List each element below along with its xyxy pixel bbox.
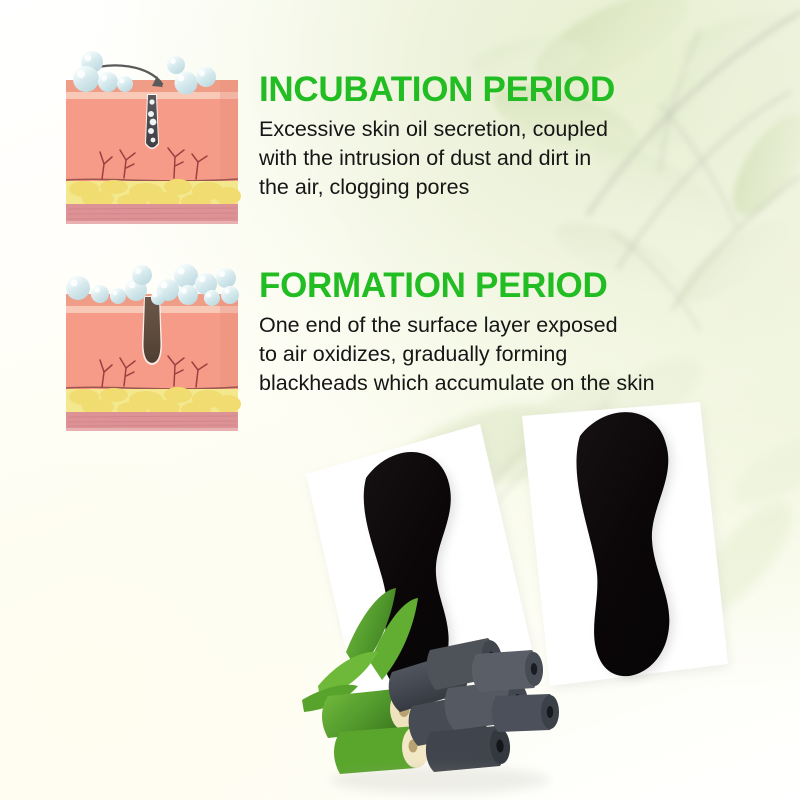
bubble bbox=[216, 268, 236, 288]
skin-diagram-formation bbox=[62, 268, 242, 433]
pile-shadow bbox=[330, 766, 550, 794]
section-incubation: INCUBATION PERIOD Excessive skin oil sec… bbox=[259, 72, 679, 202]
product-photo-svg bbox=[300, 400, 800, 800]
bubble bbox=[66, 276, 90, 300]
bubble bbox=[91, 285, 109, 303]
bubble bbox=[204, 290, 220, 306]
bubble bbox=[196, 67, 216, 87]
skin-cross-section-formation-svg bbox=[62, 268, 242, 433]
bubble bbox=[117, 76, 133, 92]
skin-diagram-incubation bbox=[62, 56, 242, 228]
body-line: One end of the surface layer exposed bbox=[259, 311, 709, 340]
body-formation: One end of the surface layer exposed to … bbox=[259, 311, 709, 397]
body-line: to air oxidizes, gradually forming bbox=[259, 340, 709, 369]
bubble bbox=[98, 72, 118, 92]
body-line: the air, clogging pores bbox=[259, 173, 679, 202]
bubble bbox=[110, 288, 126, 304]
bubble bbox=[174, 264, 198, 288]
section-formation: FORMATION PERIOD One end of the surface … bbox=[259, 268, 709, 398]
bubble bbox=[132, 265, 152, 285]
body-line: with the intrusion of dust and dirt in bbox=[259, 144, 679, 173]
body-line: blackheads which accumulate on the skin bbox=[259, 369, 709, 398]
clogged-pore bbox=[145, 94, 159, 149]
bubble bbox=[73, 66, 99, 92]
bubble bbox=[178, 285, 198, 305]
product-infographic: INCUBATION PERIOD Excessive skin oil sec… bbox=[0, 0, 800, 800]
bubble bbox=[151, 291, 165, 305]
blackhead-plug bbox=[142, 296, 162, 365]
bubble bbox=[167, 56, 185, 74]
heading-formation: FORMATION PERIOD bbox=[259, 268, 709, 304]
body-incubation: Excessive skin oil secretion, coupled wi… bbox=[259, 115, 679, 201]
skin-cross-section-incubation-svg bbox=[62, 56, 242, 228]
bubble bbox=[175, 72, 198, 95]
bubble bbox=[221, 286, 239, 304]
body-line: Excessive skin oil secretion, coupled bbox=[259, 115, 679, 144]
product-photo-charcoal-strips bbox=[300, 400, 800, 800]
heading-incubation: INCUBATION PERIOD bbox=[259, 72, 679, 108]
